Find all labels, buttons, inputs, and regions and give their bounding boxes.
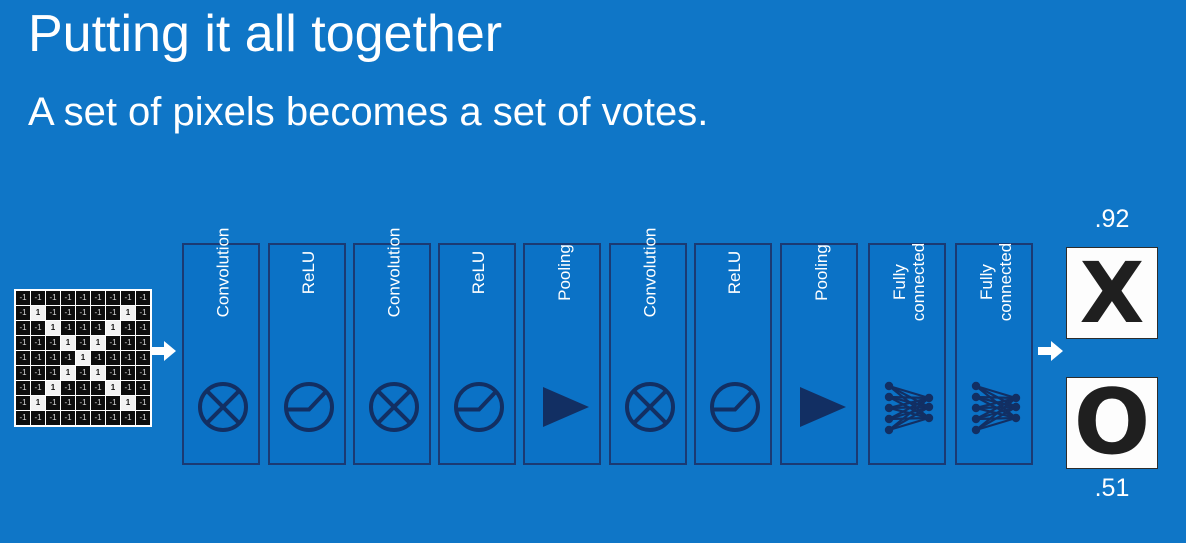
- pixel-cell: -1: [76, 321, 90, 335]
- convolution-icon: [184, 379, 262, 435]
- fully-connected-icon: [870, 379, 948, 435]
- pixel-cell: -1: [76, 336, 90, 350]
- pixel-cell: 1: [76, 351, 90, 365]
- pixel-cell: -1: [76, 366, 90, 380]
- pixel-cell: -1: [121, 336, 135, 350]
- output-class-box-o: O: [1066, 377, 1158, 469]
- pixel-cell: -1: [61, 396, 75, 410]
- layer-box-relu: ReLU: [268, 243, 346, 465]
- pixel-cell: -1: [16, 381, 30, 395]
- layer-label-text: Convolution: [213, 228, 232, 318]
- pixel-cell: -1: [121, 291, 135, 305]
- fully-connected-icon: [957, 379, 1035, 435]
- layer-label: Pooling: [525, 263, 603, 383]
- pixel-cell: -1: [121, 381, 135, 395]
- pixel-cell: 1: [31, 306, 45, 320]
- layer-label: Fully connected: [870, 263, 948, 383]
- pixel-cell: -1: [76, 396, 90, 410]
- pixel-cell: -1: [91, 291, 105, 305]
- pixel-cell: -1: [76, 306, 90, 320]
- layer-label-text: Fully connected: [977, 243, 1015, 321]
- pixel-cell: 1: [121, 396, 135, 410]
- pixel-cell: 1: [106, 381, 120, 395]
- layer-label-text: Pooling: [554, 244, 573, 301]
- pixel-cell: -1: [106, 351, 120, 365]
- layer-label: ReLU: [696, 263, 774, 383]
- pixel-cell: -1: [16, 351, 30, 365]
- pixel-cell: -1: [106, 291, 120, 305]
- pixel-cell: -1: [31, 291, 45, 305]
- layer-label: ReLU: [270, 263, 348, 383]
- pixel-cell: 1: [106, 321, 120, 335]
- relu-icon: [696, 379, 774, 435]
- convolution-icon: [611, 379, 689, 435]
- pixel-cell: -1: [46, 291, 60, 305]
- pixel-cell: -1: [31, 321, 45, 335]
- pixel-cell: -1: [16, 291, 30, 305]
- pixel-cell: 1: [61, 336, 75, 350]
- output-class-box-x: X: [1066, 247, 1158, 339]
- pixel-cell: -1: [121, 321, 135, 335]
- pixel-cell: -1: [121, 351, 135, 365]
- pixel-cell: -1: [61, 351, 75, 365]
- pixel-cell: -1: [16, 366, 30, 380]
- pixel-cell: -1: [61, 291, 75, 305]
- pixel-cell: -1: [121, 411, 135, 425]
- pooling-icon: [525, 379, 603, 435]
- pixel-cell: -1: [31, 351, 45, 365]
- relu-icon: [440, 379, 518, 435]
- pixel-cell: -1: [16, 336, 30, 350]
- pixel-cell: -1: [121, 366, 135, 380]
- layer-label: Pooling: [782, 263, 860, 383]
- pixel-cell: 1: [46, 321, 60, 335]
- pixel-cell: -1: [31, 336, 45, 350]
- pixel-cell: -1: [91, 306, 105, 320]
- pixel-cell: -1: [136, 351, 150, 365]
- pixel-cell: 1: [31, 396, 45, 410]
- pixel-cell: -1: [91, 351, 105, 365]
- pixel-cell: -1: [91, 381, 105, 395]
- pixel-cell: -1: [46, 306, 60, 320]
- layer-box-pooling: Pooling: [780, 243, 858, 465]
- layer-label-text: ReLU: [299, 251, 318, 294]
- pixel-cell: 1: [121, 306, 135, 320]
- pixel-cell: -1: [46, 396, 60, 410]
- pixel-cell: -1: [31, 381, 45, 395]
- pixel-cell: -1: [136, 396, 150, 410]
- layer-box-convolution: Convolution: [353, 243, 431, 465]
- relu-icon: [270, 379, 348, 435]
- pixel-cell: -1: [16, 396, 30, 410]
- pixel-cell: -1: [136, 366, 150, 380]
- layer-label: Convolution: [355, 263, 433, 383]
- pixel-cell: -1: [61, 381, 75, 395]
- pixel-cell: -1: [136, 336, 150, 350]
- convolution-icon: [355, 379, 433, 435]
- layer-box-relu: ReLU: [694, 243, 772, 465]
- pixel-cell: -1: [31, 411, 45, 425]
- pixel-cell: -1: [91, 396, 105, 410]
- layer-box-convolution: Convolution: [609, 243, 687, 465]
- layer-label-text: ReLU: [469, 251, 488, 294]
- layer-box-fully-connected: Fully connected: [955, 243, 1033, 465]
- layer-label-text: Convolution: [384, 228, 403, 318]
- pixel-cell: -1: [61, 306, 75, 320]
- pixel-cell: -1: [76, 411, 90, 425]
- layer-label: ReLU: [440, 263, 518, 383]
- pixel-cell: -1: [136, 291, 150, 305]
- pooling-icon: [782, 379, 860, 435]
- output-class-label-x: X: [1080, 251, 1145, 335]
- pixel-cell: -1: [16, 411, 30, 425]
- pixel-cell: -1: [46, 336, 60, 350]
- output-score-x: .92: [1066, 205, 1158, 234]
- layer-box-relu: ReLU: [438, 243, 516, 465]
- pixel-cell: -1: [91, 411, 105, 425]
- pixel-cell: -1: [61, 411, 75, 425]
- pixel-cell: -1: [106, 336, 120, 350]
- layer-label-text: Pooling: [811, 244, 830, 301]
- pixel-cell: -1: [136, 411, 150, 425]
- pixel-cell: -1: [106, 396, 120, 410]
- pixel-cell: 1: [61, 366, 75, 380]
- input-pixel-grid: -1-1-1-1-1-1-1-1-1-11-1-1-1-1-11-1-1-11-…: [14, 289, 152, 427]
- cnn-pipeline-diagram: -1-1-1-1-1-1-1-1-1-11-1-1-1-1-11-1-1-11-…: [0, 0, 1186, 543]
- pixel-cell: -1: [61, 321, 75, 335]
- pixel-cell: -1: [46, 411, 60, 425]
- pixel-cell: -1: [76, 381, 90, 395]
- pixel-cell: -1: [76, 291, 90, 305]
- layer-label: Convolution: [184, 263, 262, 383]
- pixel-cell: -1: [106, 411, 120, 425]
- pixel-cell: -1: [106, 366, 120, 380]
- pixel-cell: -1: [136, 321, 150, 335]
- pixel-cell: 1: [91, 366, 105, 380]
- pixel-cell: -1: [46, 366, 60, 380]
- layer-box-convolution: Convolution: [182, 243, 260, 465]
- pixel-cell: -1: [31, 366, 45, 380]
- pixel-cell: -1: [16, 321, 30, 335]
- layer-box-pooling: Pooling: [523, 243, 601, 465]
- layer-label-text: Fully connected: [890, 243, 928, 321]
- pixel-cell: -1: [136, 306, 150, 320]
- pixel-cell: -1: [16, 306, 30, 320]
- layer-label-text: Convolution: [640, 228, 659, 318]
- layer-label: Fully connected: [957, 263, 1035, 383]
- pixel-cell: -1: [46, 351, 60, 365]
- pixel-cell: 1: [46, 381, 60, 395]
- pixel-cell: -1: [91, 321, 105, 335]
- output-class-label-o: O: [1074, 378, 1151, 468]
- layer-box-fully-connected: Fully connected: [868, 243, 946, 465]
- layer-label: Convolution: [611, 263, 689, 383]
- layer-label-text: ReLU: [725, 251, 744, 294]
- pixel-cell: -1: [136, 381, 150, 395]
- pixel-cell: -1: [106, 306, 120, 320]
- pixel-cell: 1: [91, 336, 105, 350]
- output-score-o: .51: [1066, 474, 1158, 503]
